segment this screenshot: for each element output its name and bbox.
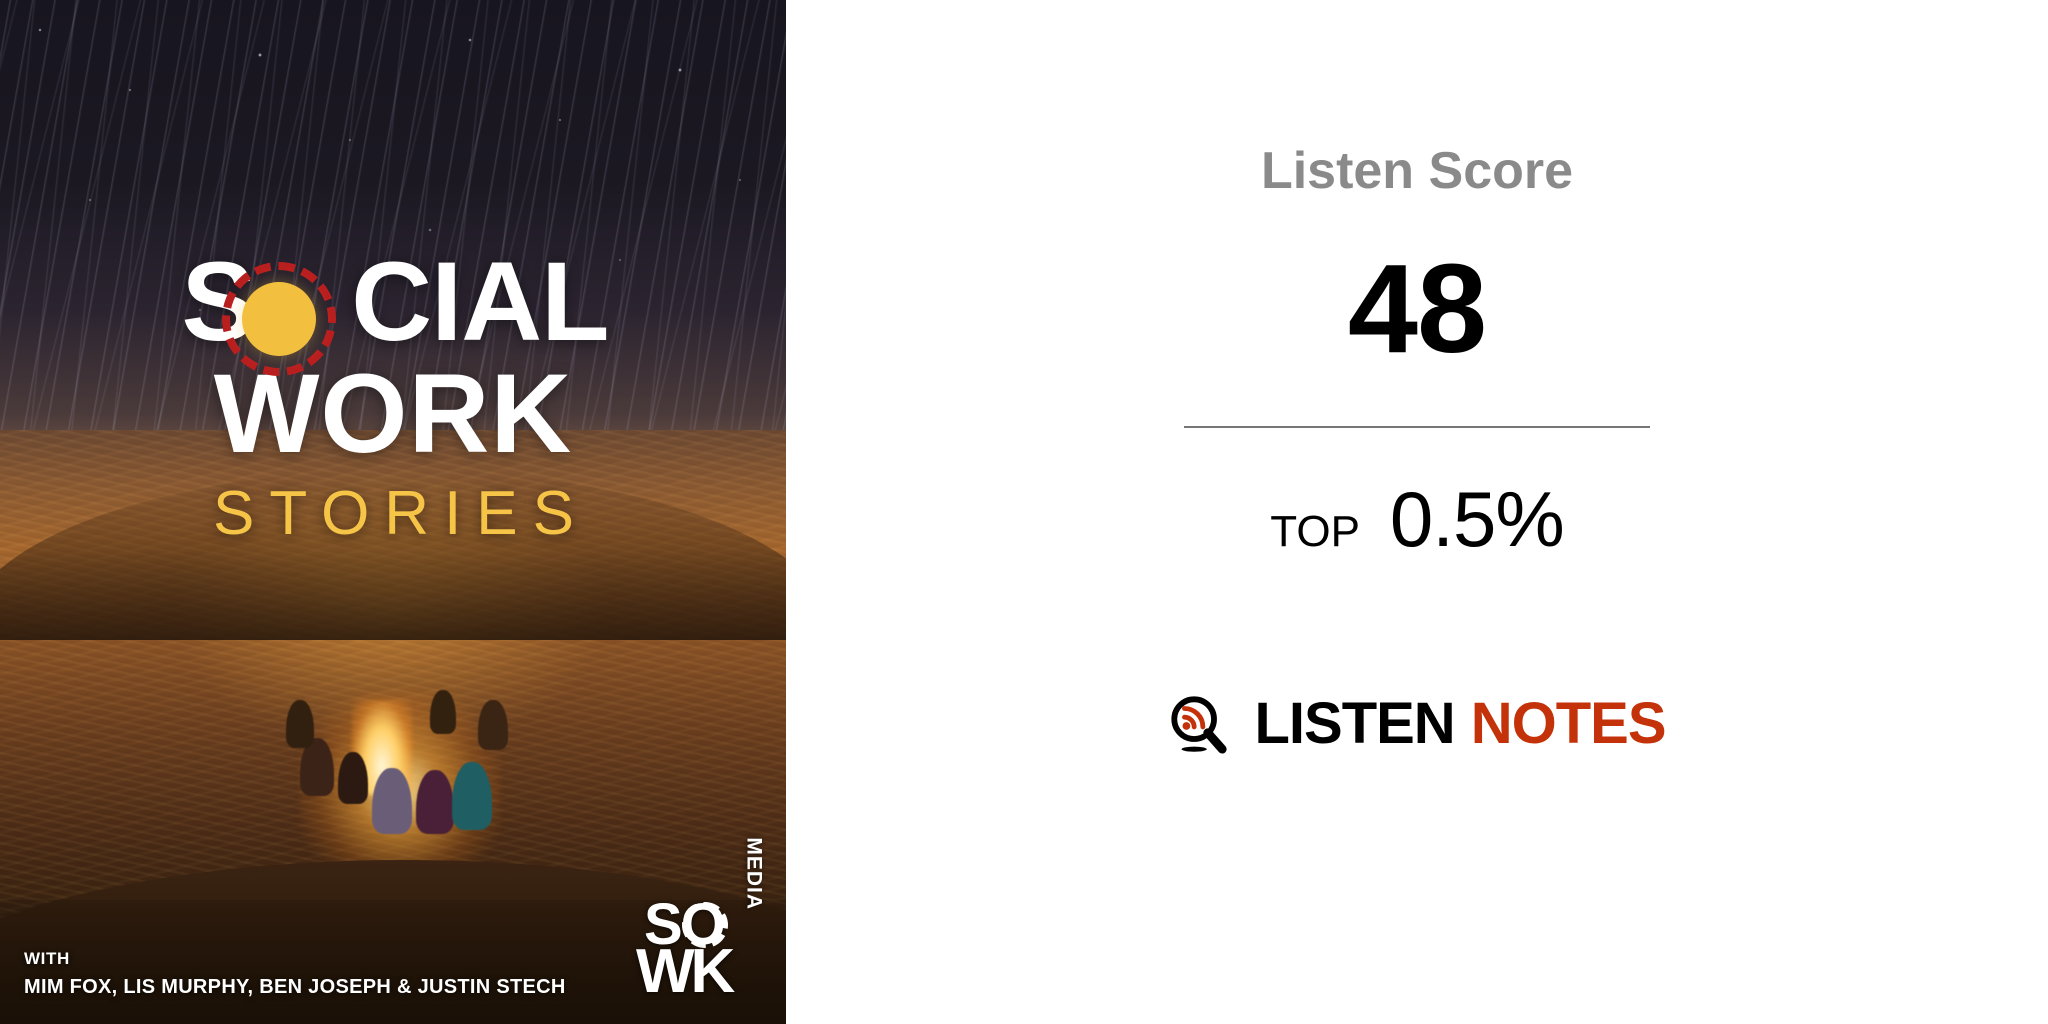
brand-word-notes: NOTES [1471, 695, 1666, 753]
sun-circle-icon [242, 282, 316, 356]
listen-score-title: Listen Score [1261, 142, 1573, 200]
cover-title-social: SCIAL [0, 248, 786, 356]
podcast-cover-art[interactable]: SCIAL WORK STORIES WITH MIM FOX, LIS MUR… [0, 0, 786, 1024]
swk-logo-wk: WK [636, 942, 731, 1002]
credits-host-names: MIM FOX, LIS MURPHY, BEN JOSEPH & JUSTIN… [24, 972, 566, 1002]
percentile-row: TOP 0.5% [1270, 474, 1563, 565]
listen-notes-brand[interactable]: LISTEN NOTES [1168, 693, 1665, 755]
campfire-figure [430, 690, 456, 734]
cover-title-stories: STORIES [0, 472, 786, 556]
percentile-value: 0.5% [1390, 474, 1564, 565]
campfire-figure [478, 700, 508, 750]
listen-score-panel: Listen Score 48 TOP 0.5% LISTEN NOTES [786, 0, 2048, 1024]
swk-logo-media: MEDIA [742, 837, 766, 910]
campfire-figure [338, 752, 368, 804]
magnifier-rss-icon [1168, 693, 1230, 755]
brand-word-listen: LISTEN [1254, 695, 1454, 753]
percentile-label: TOP [1270, 507, 1360, 557]
campfire-figure [372, 768, 412, 834]
cover-logotype: SCIAL WORK STORIES [0, 248, 786, 556]
cover-title-social-rest: CIAL [351, 239, 608, 364]
cover-credits: WITH MIM FOX, LIS MURPHY, BEN JOSEPH & J… [24, 946, 566, 1002]
campfire-figure [452, 762, 492, 830]
listen-score-card: SCIAL WORK STORIES WITH MIM FOX, LIS MUR… [0, 0, 2048, 1024]
cover-title-work: WORK [0, 356, 786, 472]
listen-score-value: 48 [1348, 246, 1486, 372]
credits-with-label: WITH [24, 946, 566, 972]
swk-media-logo: SO WK MEDIA [636, 898, 760, 1008]
campfire-figure [286, 700, 314, 748]
panel-divider [1184, 426, 1650, 428]
campfire-figure [416, 770, 454, 834]
